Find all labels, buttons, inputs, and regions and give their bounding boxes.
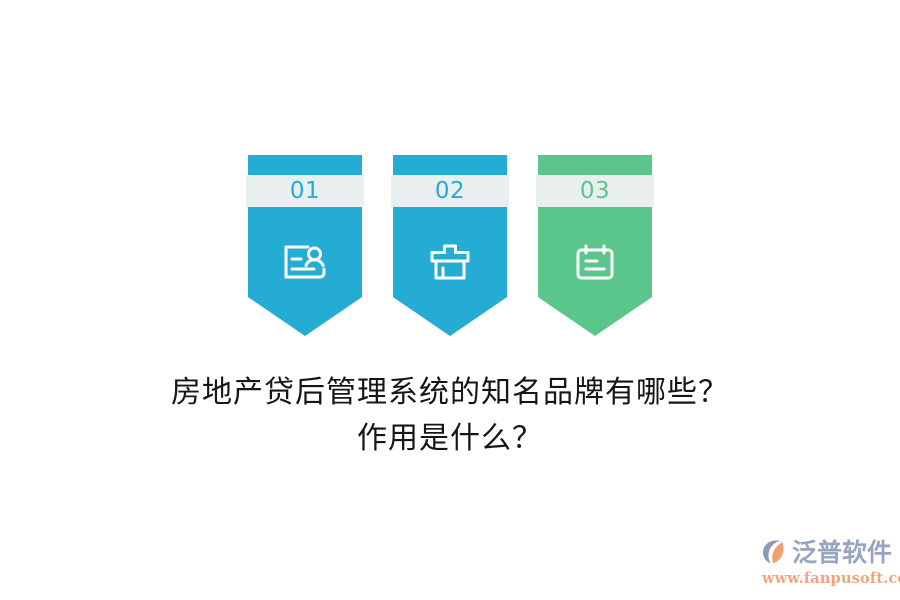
brand-url: www.fanpusoft.com <box>762 572 888 587</box>
banner-number-label: 02 <box>435 180 465 203</box>
banner-number-label: 01 <box>290 180 320 203</box>
banner-number-label: 03 <box>580 180 610 203</box>
headline-line-1: 房地产贷后管理系统的知名品牌有哪些？ <box>0 370 900 416</box>
storefront-building-icon <box>393 237 507 287</box>
banner-number-band: 01 <box>246 175 364 207</box>
id-card-person-icon <box>248 237 362 287</box>
brand-watermark: 泛普软件 www.fanpusoft.com <box>760 536 888 588</box>
slide-canvas: 01 02 <box>0 0 900 600</box>
brand-logo-row: 泛普软件 <box>760 536 888 568</box>
banner-number-band: 03 <box>536 175 654 207</box>
banner-number-band: 02 <box>391 175 509 207</box>
banner-item-02[interactable]: 02 <box>393 155 507 336</box>
banner-item-03[interactable]: 03 <box>538 155 652 336</box>
fanpu-swoosh-logo-icon <box>760 537 790 567</box>
calendar-notes-icon <box>538 237 652 287</box>
banner-row: 01 02 <box>0 155 900 336</box>
headline: 房地产贷后管理系统的知名品牌有哪些？ 作用是什么？ <box>0 370 900 462</box>
banner-item-01[interactable]: 01 <box>248 155 362 336</box>
brand-name: 泛普软件 <box>792 540 892 565</box>
headline-line-2: 作用是什么？ <box>0 416 900 462</box>
